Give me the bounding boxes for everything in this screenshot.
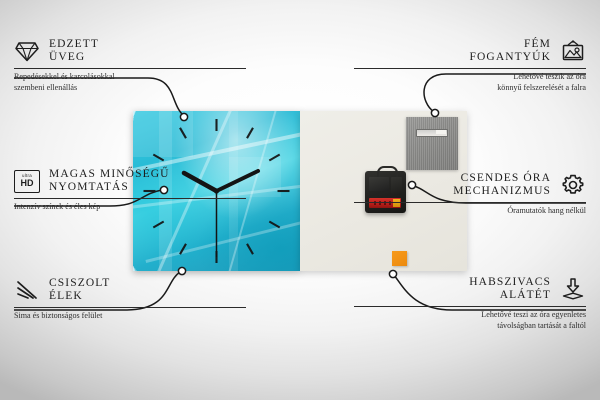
feature-heading: CSENDES ÓRA MECHANIZMUS (354, 172, 586, 198)
feature-csendes-ora-mechanizmus: CSENDES ÓRA MECHANIZMUS Óramutatók hang … (354, 172, 586, 217)
feature-title: FÉM FOGANTYÚK (470, 38, 551, 64)
divider (14, 307, 246, 308)
feature-heading: FÉM FOGANTYÚK (354, 38, 586, 64)
infographic-canvas: EDZETT ÜVEG Repedésekkel és karcolásokka… (0, 0, 600, 400)
feature-heading: HABSZIVACS ALÁTÉT (354, 276, 586, 302)
foam-pad-arrow-icon (560, 277, 586, 301)
connector-dot (180, 113, 187, 120)
feature-subtitle: Intenzív színek és éles kép (14, 202, 246, 213)
feature-magas-minosegu-nyomtatas: ultra HD MAGAS MINŐSÉGŰ NYOMTATÁS Intenz… (14, 168, 246, 213)
feature-subtitle: Óramutatók hang nélkül (354, 206, 586, 217)
feature-title: CSISZOLT ÉLEK (49, 277, 110, 303)
feature-heading: EDZETT ÜVEG (14, 38, 246, 64)
divider (354, 202, 586, 203)
ultra-hd-large-text: HD (21, 179, 34, 188)
ultra-hd-icon: ultra HD (14, 169, 40, 193)
feature-title: EDZETT ÜVEG (49, 38, 99, 64)
divider (14, 198, 246, 199)
divider (354, 68, 586, 69)
feature-subtitle: Sima és biztonságos felület (14, 311, 246, 322)
divider (354, 306, 586, 307)
feature-csiszolt-elek: CSISZOLT ÉLEK Sima és biztonságos felüle… (14, 277, 246, 322)
divider (14, 68, 246, 69)
hanging-picture-frame-icon (560, 39, 586, 63)
feature-title: HABSZIVACS ALÁTÉT (469, 276, 551, 302)
feature-subtitle: Lehetővé teszi az óra egyenletes távolsá… (354, 310, 586, 331)
feature-fem-fogantyuk: FÉM FOGANTYÚK Lehetővé teszik az óra kön… (354, 38, 586, 93)
connector-dot (431, 109, 438, 116)
gear-icon (560, 173, 586, 197)
feature-subtitle: Repedésekkel és karcolásokkal szembeni e… (14, 72, 246, 93)
feature-title: CSENDES ÓRA MECHANIZMUS (453, 172, 551, 198)
diamond-icon (14, 39, 40, 63)
feature-heading: CSISZOLT ÉLEK (14, 277, 246, 303)
feature-edzett-uveg: EDZETT ÜVEG Repedésekkel és karcolásokka… (14, 38, 246, 93)
feature-habszivacs-alatet: HABSZIVACS ALÁTÉT Lehetővé teszi az óra … (354, 276, 586, 331)
feature-subtitle: Lehetővé teszik az óra könnyű felszerelé… (354, 72, 586, 93)
feature-heading: ultra HD MAGAS MINŐSÉGŰ NYOMTATÁS (14, 168, 246, 194)
connector-dot (178, 267, 185, 274)
bevelled-edges-icon (14, 278, 40, 302)
feature-title: MAGAS MINŐSÉGŰ NYOMTATÁS (49, 168, 170, 194)
